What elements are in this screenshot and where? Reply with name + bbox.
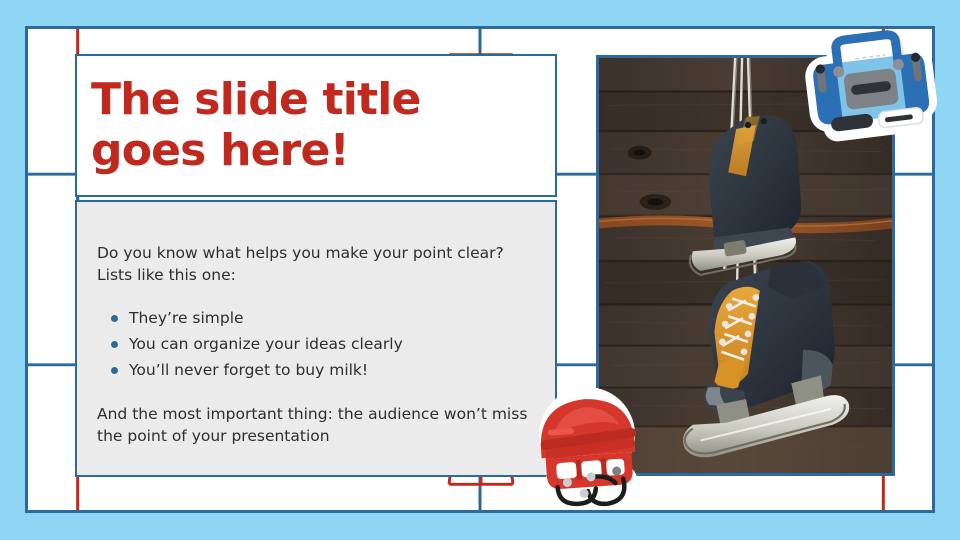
- hockey-helmet-icon: [517, 380, 659, 515]
- bullet-point-icon: [111, 367, 118, 374]
- slide-title-card: The slide title goes here!: [75, 54, 557, 197]
- list-item: You can organize your ideas clearly: [111, 333, 529, 356]
- list-item: They’re simple: [111, 307, 529, 330]
- hockey-bag-sticker: [788, 18, 954, 158]
- hockey-bag-icon: [788, 18, 954, 158]
- presentation-slide: The slide title goes here! Do you know w…: [0, 0, 960, 540]
- list-item-label: You’ll never forget to buy milk!: [129, 361, 368, 379]
- benefits-list: They’re simple You can organize your ide…: [97, 307, 529, 383]
- list-item: You’ll never forget to buy milk!: [111, 359, 529, 382]
- body-intro-text: Do you know what helps you make your poi…: [97, 242, 529, 287]
- page-title: The slide title goes here!: [91, 75, 421, 175]
- bullet-point-icon: [111, 315, 118, 322]
- list-item-label: You can organize your ideas clearly: [129, 335, 403, 353]
- hockey-helmet-sticker: [517, 380, 659, 515]
- slide-body-card: Do you know what helps you make your poi…: [75, 200, 557, 477]
- bullet-point-icon: [111, 341, 118, 348]
- list-item-label: They’re simple: [129, 309, 244, 327]
- body-closing-text: And the most important thing: the audien…: [97, 403, 529, 448]
